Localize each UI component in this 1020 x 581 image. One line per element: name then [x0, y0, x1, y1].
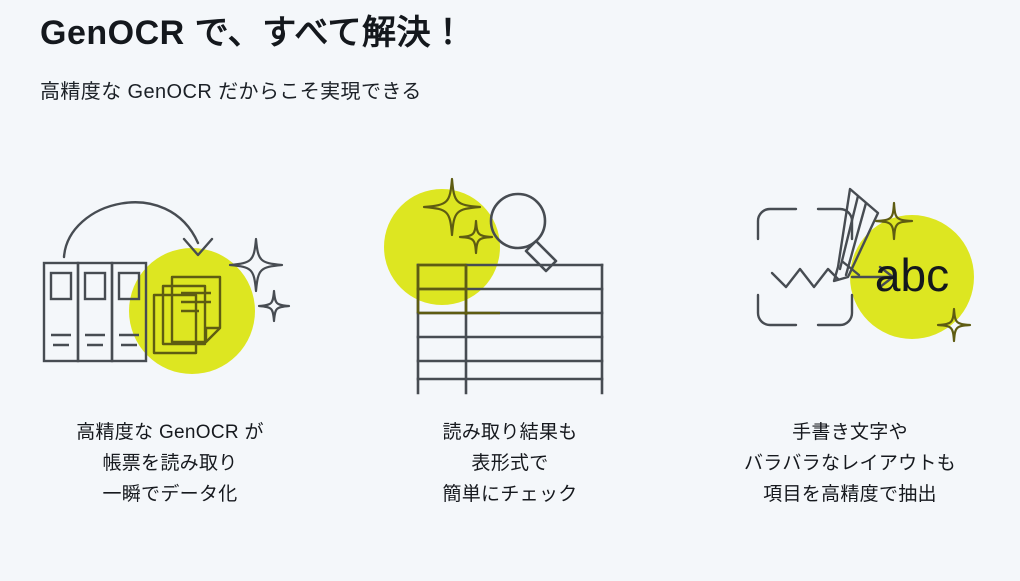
feature-caption-scan: 高精度な GenOCR が 帳票を読み取り 一瞬でデータ化: [76, 418, 264, 510]
feature-list: 高精度な GenOCR が 帳票を読み取り 一瞬でデータ化: [0, 160, 1020, 510]
page-title: GenOCR で、すべて解決！: [40, 12, 980, 55]
caption-line: 表形式で: [442, 449, 577, 480]
signature-line-icon: [772, 269, 838, 287]
caption-line: バラバラなレイアウトも: [744, 449, 956, 480]
feature-caption-handwriting: 手書き文字や バラバラなレイアウトも 項目を高精度で抽出: [744, 418, 956, 510]
illustration-binders-to-digital-documents: [0, 160, 340, 400]
caption-line: 簡単にチェック: [442, 480, 577, 511]
slide-root: GenOCR で、すべて解決！ 高精度な GenOCR だからこそ実現できる: [0, 0, 1020, 581]
feature-caption-table: 読み取り結果も 表形式で 簡単にチェック: [442, 418, 577, 510]
accent-circle: [384, 189, 500, 305]
magnifier-icon: [491, 194, 556, 271]
illustration-table-with-magnifier: [340, 160, 680, 400]
page-subtitle: 高精度な GenOCR だからこそ実現できる: [40, 55, 980, 105]
feature-item-table: 読み取り結果も 表形式で 簡単にチェック: [340, 160, 680, 510]
feature-item-scan: 高精度な GenOCR が 帳票を読み取り 一瞬でデータ化: [0, 160, 340, 510]
caption-line: 高精度な GenOCR が: [76, 418, 264, 449]
caption-line: 帳票を読み取り: [76, 449, 264, 480]
caption-line: 項目を高精度で抽出: [744, 480, 956, 511]
feature-item-handwriting: abc 手書き文字や バラバラなレイアウトも 項目を高精度で抽出: [680, 160, 1020, 510]
caption-line: 手書き文字や: [744, 418, 956, 449]
caption-line: 一瞬でデータ化: [76, 480, 264, 511]
caption-line: 読み取り結果も: [442, 418, 577, 449]
illustration-handwriting-to-text: abc: [680, 160, 1020, 400]
heading-block: GenOCR で、すべて解決！ 高精度な GenOCR だからこそ実現できる: [40, 12, 980, 105]
abc-label: abc: [875, 249, 949, 301]
